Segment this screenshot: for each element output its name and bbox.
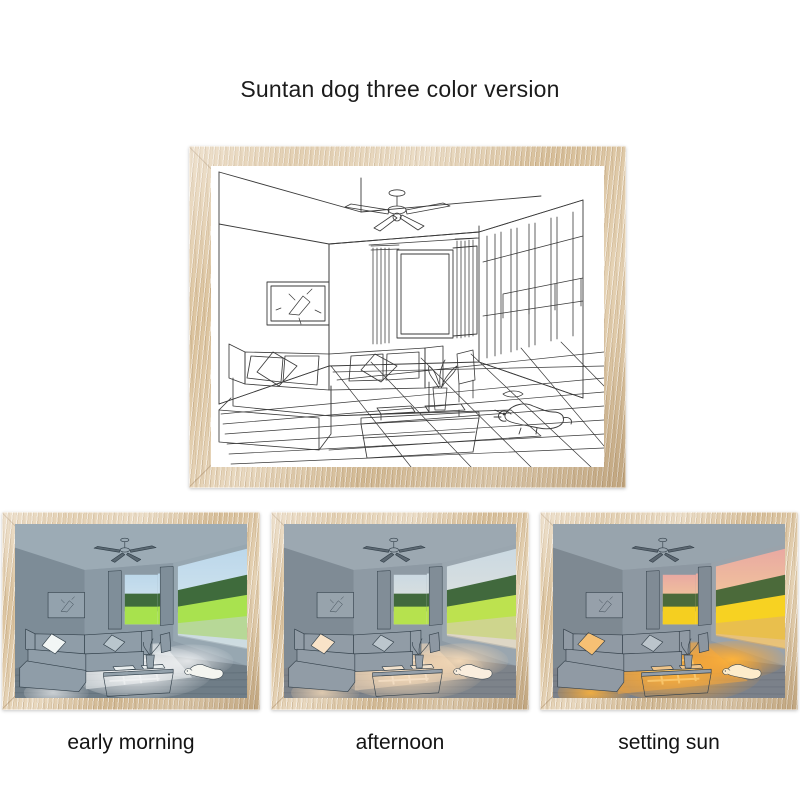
lit-room-scene: [15, 524, 247, 698]
mode-preview-early-morning[interactable]: [2, 512, 260, 710]
line-art-room-drawing: [211, 166, 604, 467]
page-title: Suntan dog three color version: [0, 76, 800, 103]
caption-setting-sun: setting sun: [540, 731, 798, 755]
caption-afternoon: afternoon: [271, 731, 529, 755]
artwork-lit-early-morning: [15, 524, 247, 698]
main-product-frame: [189, 146, 626, 488]
artwork-lit-setting-sun: [553, 524, 785, 698]
artwork-lit-afternoon: [284, 524, 516, 698]
caption-early-morning: early morning: [2, 731, 260, 755]
mode-preview-afternoon[interactable]: [271, 512, 529, 710]
mode-preview-setting-sun[interactable]: [540, 512, 798, 710]
lit-room-scene: [284, 524, 516, 698]
lit-room-scene: [553, 524, 785, 698]
artwork-line-art: [211, 166, 604, 467]
